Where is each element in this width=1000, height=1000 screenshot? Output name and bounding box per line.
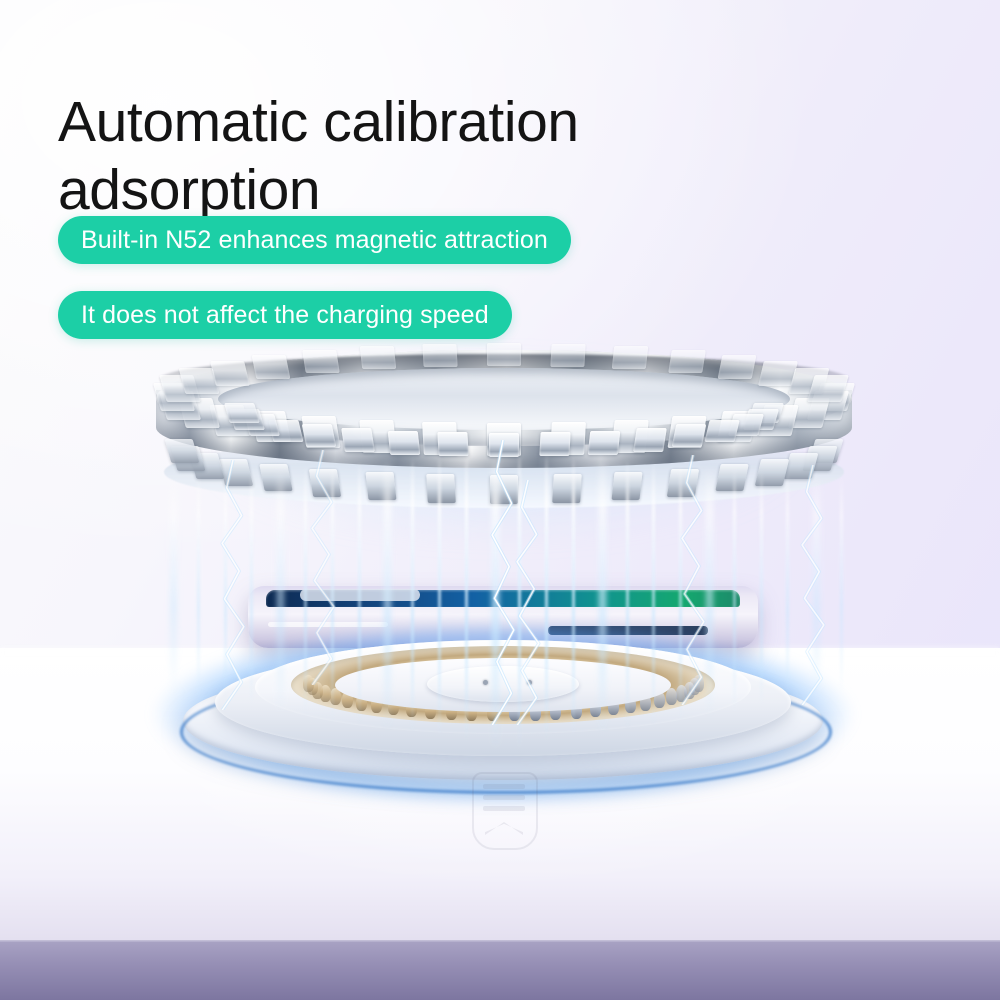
feature-badge-magnetic-label: Built-in N52 enhances magnetic attractio…: [81, 226, 548, 255]
magnet-segment: [302, 350, 340, 373]
energy-beam: [277, 468, 284, 712]
magnet-segment: [224, 403, 260, 423]
watermark-line-3: [483, 806, 525, 811]
watermark-line-2: [483, 795, 525, 800]
page-title: Automatic calibration adsorption: [58, 88, 818, 224]
watermark-chevron-icon: [485, 822, 523, 835]
magnet-segment: [359, 346, 395, 369]
energy-beam: [572, 455, 575, 739]
feature-badge-speed-label: It does not affect the charging speed: [81, 301, 489, 330]
energy-beam: [733, 468, 736, 712]
magnet-segment: [551, 344, 586, 367]
feature-badge-speed: It does not affect the charging speed: [58, 291, 512, 339]
magnet-segment: [422, 344, 457, 367]
energy-beam: [545, 453, 548, 743]
magnet-segment: [251, 355, 290, 379]
brand-watermark: [472, 772, 538, 850]
energy-beam: [170, 476, 177, 694]
magnet-segment: [668, 350, 706, 373]
energy-beam: [197, 474, 200, 698]
floor-surface: [0, 940, 1000, 1000]
magnet-segment: [612, 346, 648, 369]
magnet-segment: [487, 343, 521, 366]
lightning-bolt: [490, 440, 516, 725]
energy-beam: [706, 466, 713, 717]
watermark-line-1: [483, 784, 525, 789]
lightning-bolt: [800, 465, 826, 705]
energy-beam: [384, 459, 391, 729]
magnet-segment: [704, 420, 739, 442]
lightning-bolt: [220, 460, 246, 710]
energy-beam: [786, 472, 789, 703]
energy-beam: [465, 453, 468, 743]
magnet-segment: [210, 361, 250, 386]
feature-badge-magnetic: Built-in N52 enhances magnetic attractio…: [58, 216, 571, 264]
lightning-bolt: [310, 450, 336, 685]
lightning-bolt: [515, 480, 541, 725]
energy-beam: [652, 461, 655, 725]
energy-beam: [411, 457, 414, 734]
energy-beam: [304, 466, 307, 717]
energy-beam: [599, 457, 606, 734]
product-banner: Automatic calibration adsorption Built-i…: [0, 0, 1000, 1000]
magnet-segment: [807, 375, 849, 402]
magnet-segment: [718, 355, 757, 379]
energy-beam: [438, 455, 441, 739]
energy-beam: [358, 461, 361, 725]
energy-beam: [760, 470, 763, 707]
energy-beam: [250, 470, 253, 707]
energy-beam: [626, 459, 629, 729]
energy-beam: [840, 476, 843, 694]
lightning-bolt: [680, 455, 706, 705]
magnetic-energy-beams: [160, 440, 850, 740]
